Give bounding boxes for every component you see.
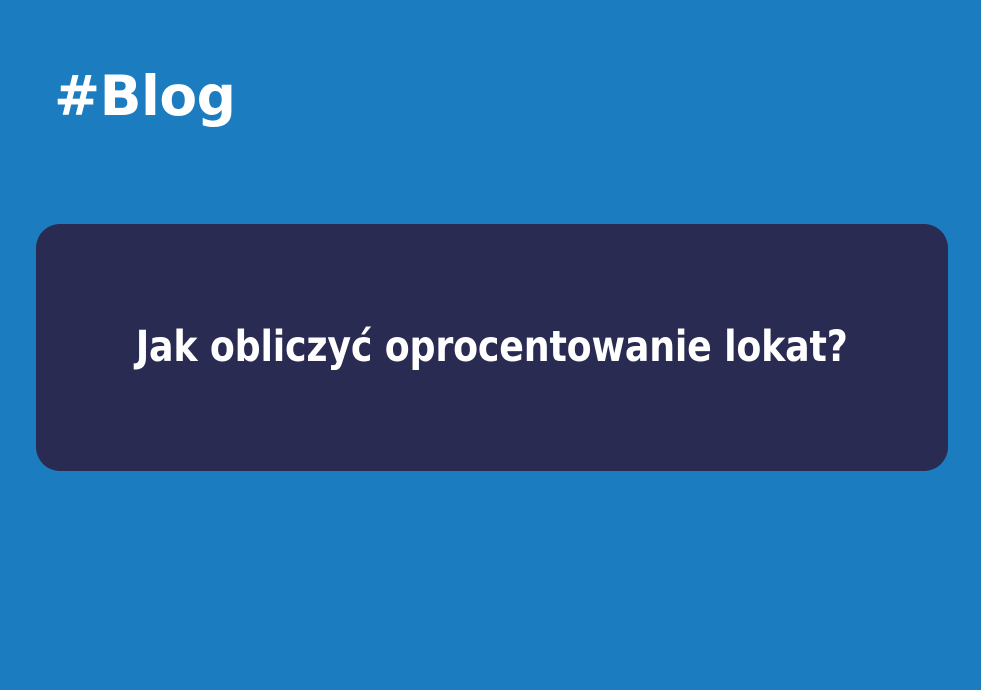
article-card[interactable]: Jak obliczyć oprocentowanie lokat? xyxy=(36,224,948,471)
blog-tag-heading: #Blog xyxy=(54,68,236,126)
article-title: Jak obliczyć oprocentowanie lokat? xyxy=(136,323,848,372)
page-root: #Blog Jak obliczyć oprocentowanie lokat? xyxy=(0,0,981,690)
